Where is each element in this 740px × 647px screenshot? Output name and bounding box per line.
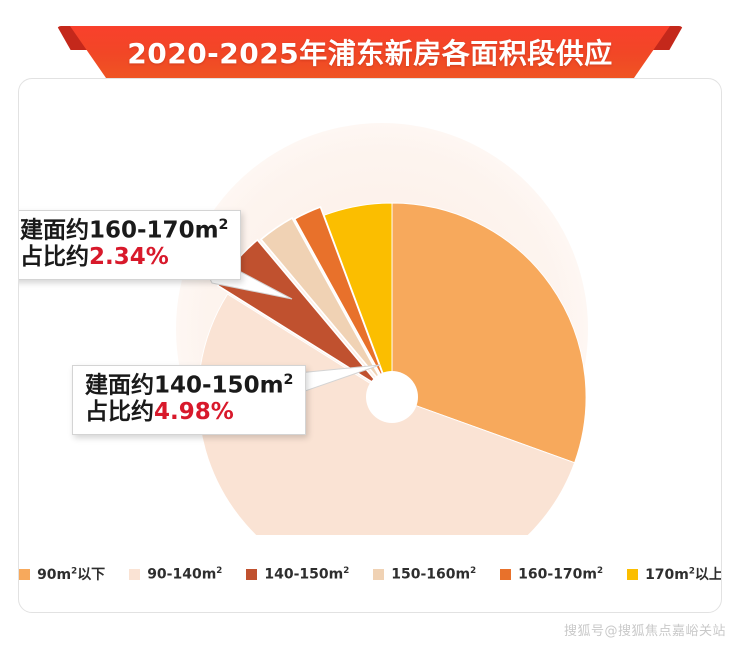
legend-label: 170m2以上 — [645, 564, 722, 584]
legend-swatch — [627, 569, 638, 580]
sup-square: 2 — [689, 566, 695, 576]
callout-140-150-value: 4.98% — [154, 399, 234, 425]
callout-160-170: 建面约160-170m2 占比约2.34% — [18, 210, 241, 280]
watermark: 搜狐号@搜狐焦点嘉峪关站 — [564, 620, 726, 639]
sup-square-1: 2 — [219, 217, 229, 233]
legend-swatch — [129, 569, 140, 580]
sup-square: 2 — [343, 566, 349, 576]
legend-item[interactable]: 170m2以上 — [627, 564, 722, 584]
chart-legend: 90m2以下90-140m2140-150m2150-160m2160-170m… — [19, 557, 722, 591]
legend-item[interactable]: 140-150m2 — [246, 566, 349, 583]
page-title: 2020-2025年浦东新房各面积段供应 — [127, 32, 612, 72]
legend-label: 140-150m2 — [264, 566, 349, 583]
callout-140-150: 建面约140-150m2 占比约4.98% — [72, 365, 306, 435]
legend-item[interactable]: 90-140m2 — [129, 566, 222, 583]
legend-label: 150-160m2 — [391, 566, 476, 583]
chart-card: 建面约160-170m2 占比约2.34% 建面约140-150m2 占比约4.… — [18, 78, 722, 613]
sup-square: 2 — [597, 566, 603, 576]
sup-square: 2 — [216, 566, 222, 576]
callout-160-170-value: 2.34% — [89, 244, 169, 270]
legend-label: 160-170m2 — [518, 566, 603, 583]
banner-body: 2020-2025年浦东新房各面积段供应 — [70, 26, 670, 78]
legend-label: 90m2以下 — [37, 564, 105, 584]
legend-item[interactable]: 150-160m2 — [373, 566, 476, 583]
legend-label: 90-140m2 — [147, 566, 222, 583]
legend-swatch — [373, 569, 384, 580]
legend-item[interactable]: 90m2以下 — [19, 564, 105, 584]
sup-square: 2 — [71, 566, 77, 576]
callout-160-170-line2: 占比约2.34% — [20, 244, 228, 271]
legend-item[interactable]: 160-170m2 — [500, 566, 603, 583]
sup-square-2: 2 — [284, 372, 294, 388]
callout-160-170-line1: 建面约160-170m2 — [20, 217, 228, 244]
sup-square: 2 — [470, 566, 476, 576]
chart-stage: 建面约160-170m2 占比约2.34% 建面约140-150m2 占比约4.… — [19, 79, 722, 549]
title-banner: 2020-2025年浦东新房各面积段供应 — [0, 8, 740, 78]
legend-swatch — [246, 569, 257, 580]
banner-tail-right — [649, 26, 683, 50]
callout-140-150-line1: 建面约140-150m2 — [85, 372, 293, 399]
pie-chart — [176, 123, 588, 535]
banner-tail-left — [57, 26, 91, 50]
callout-140-150-line2: 占比约4.98% — [85, 399, 293, 426]
legend-swatch — [500, 569, 511, 580]
legend-swatch — [19, 569, 30, 580]
